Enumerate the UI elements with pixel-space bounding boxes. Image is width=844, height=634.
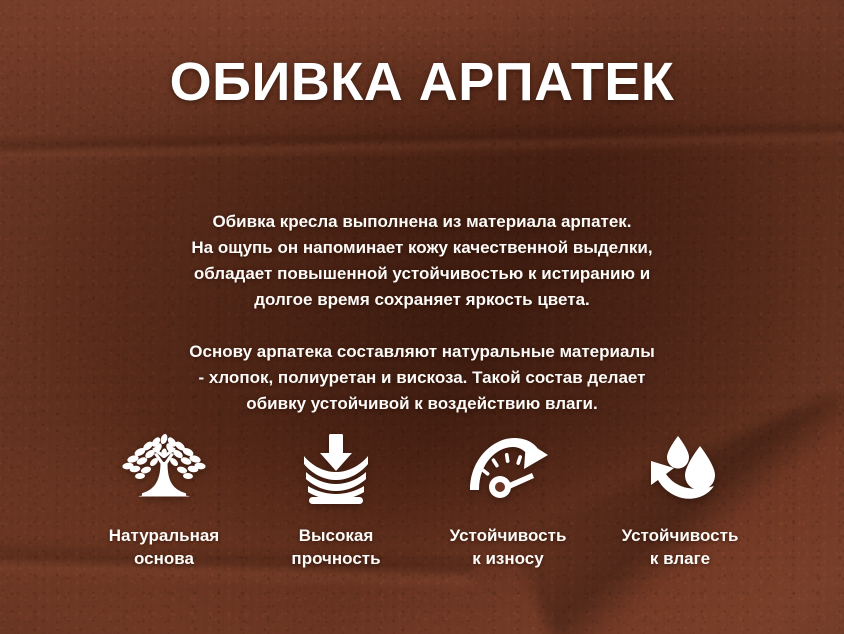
paragraph-1-line-2: На ощупь он напоминает кожу качественной…: [182, 235, 662, 261]
feature-high-strength-label-line-2: прочность: [291, 547, 380, 570]
paragraph-1-line-3: обладает повышенной устойчивостью к исти…: [182, 261, 662, 287]
feature-moisture-resistance: Устойчивость к влаге: [615, 432, 745, 570]
page-title: ОБИВКА АРПАТЕК: [170, 55, 675, 109]
feature-natural-base-label-line-2: основа: [109, 547, 219, 570]
paragraph-2-line-1: Основу арпатека составляют натуральные м…: [182, 339, 662, 365]
arrow-press-layers-icon: [296, 432, 376, 506]
tree-icon: [116, 432, 212, 506]
feature-high-strength: Высокая прочность: [271, 432, 401, 570]
feature-natural-base-label: Натуральная основа: [109, 524, 219, 570]
paragraph-2-line-2: - хлопок, полиуретан и вискоза. Такой со…: [182, 365, 662, 391]
feature-wear-resistance-label-line-2: к износу: [450, 547, 567, 570]
feature-wear-resistance-label-line-1: Устойчивость: [450, 524, 567, 547]
feature-natural-base: Натуральная основа: [99, 432, 229, 570]
feature-high-strength-label: Высокая прочность: [291, 524, 380, 570]
description-block: Обивка кресла выполнена из материала арп…: [182, 209, 662, 417]
feature-moisture-resistance-label: Устойчивость к влаге: [622, 524, 739, 570]
feature-moisture-resistance-label-line-1: Устойчивость: [622, 524, 739, 547]
feature-list: Натуральная основа: [0, 432, 844, 570]
paragraph-2-line-3: обивку устойчивой к воздействию влаги.: [182, 391, 662, 417]
paragraph-1-line-1: Обивка кресла выполнена из материала арп…: [182, 209, 662, 235]
feature-moisture-resistance-label-line-2: к влаге: [622, 547, 739, 570]
paragraph-1: Обивка кресла выполнена из материала арп…: [182, 209, 662, 313]
banner-content: ОБИВКА АРПАТЕК Обивка кресла выполнена и…: [0, 0, 844, 634]
feature-natural-base-label-line-1: Натуральная: [109, 524, 219, 547]
paragraph-1-line-4: долгое время сохраняет яркость цвета.: [182, 287, 662, 313]
feature-high-strength-label-line-1: Высокая: [291, 524, 380, 547]
feature-wear-resistance: Устойчивость к износу: [443, 432, 573, 570]
gauge-icon: [464, 432, 552, 506]
upholstery-promo-banner: ОБИВКА АРПАТЕК Обивка кресла выполнена и…: [0, 0, 844, 634]
water-drops-repel-icon: [638, 432, 722, 506]
feature-wear-resistance-label: Устойчивость к износу: [450, 524, 567, 570]
paragraph-2: Основу арпатека составляют натуральные м…: [182, 339, 662, 417]
